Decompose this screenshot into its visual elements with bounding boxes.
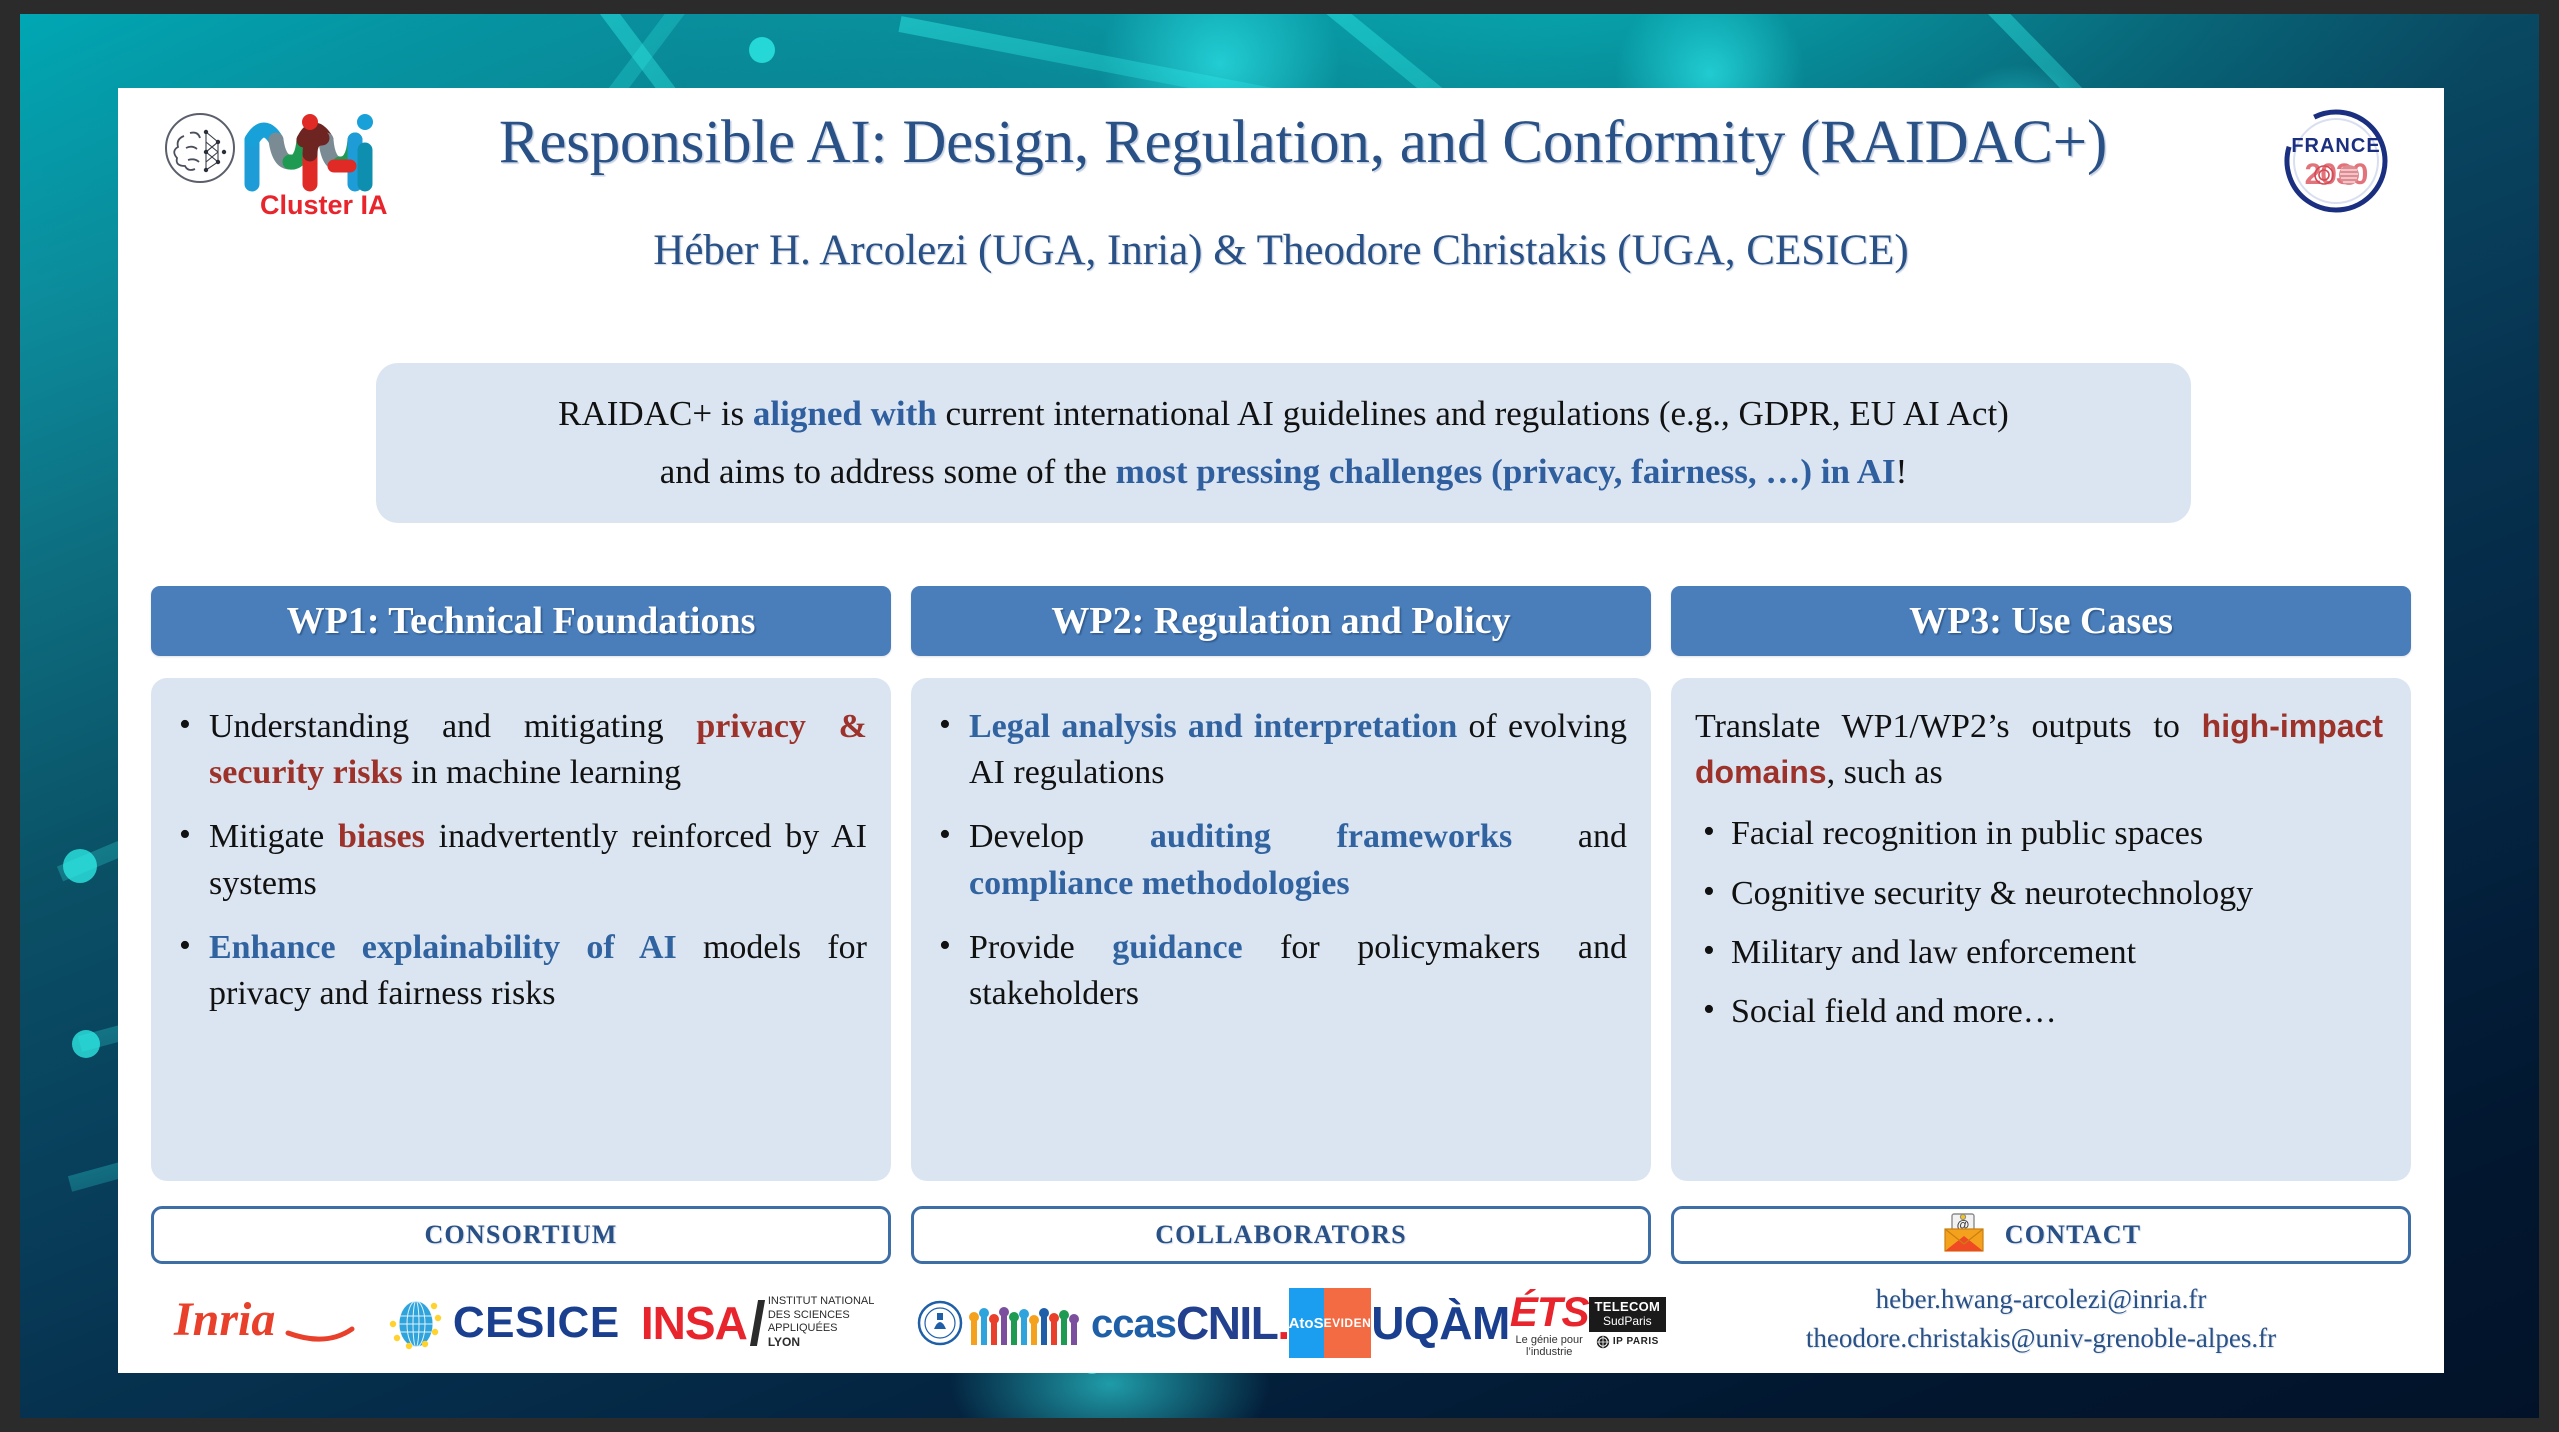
emphasis-blue: Enhance explainability of AI — [209, 929, 677, 966]
ip-paris-globe-icon — [1596, 1335, 1610, 1349]
consortium-pill: CONSORTIUM — [151, 1206, 891, 1264]
footer-row: CONSORTIUM Inria — [151, 1206, 2411, 1366]
insa-sub-l2: DES SCIENCES — [768, 1309, 850, 1321]
insa-wordmark: INSA — [641, 1296, 747, 1350]
list-item: Legal analysis and interpretation of evo… — [929, 704, 1627, 796]
miai-cluster-ia-logo: Cluster IA — [160, 100, 395, 220]
wp2-bullet-list: Legal analysis and interpretation of evo… — [929, 704, 1627, 1017]
ip-paris-text: IP PARIS — [1613, 1336, 1659, 1347]
wp3-body: Translate WP1/WP2’s outputs to high-impa… — [1671, 678, 2411, 1181]
list-item: Social field and more… — [1689, 990, 2387, 1034]
cesice-wordmark: CESICE — [453, 1298, 620, 1348]
wp1-body: Understanding and mitigating privacy & s… — [151, 678, 891, 1181]
ets-logo: ÉTS Le génie pour l’industrie — [1510, 1288, 1589, 1358]
text-run: Mitigate — [209, 818, 338, 855]
consortium-logo-strip: Inria — [151, 1282, 891, 1364]
text-run: ! — [1896, 452, 1908, 491]
text-run: and — [1512, 818, 1627, 855]
slide-background: Cluster IA Responsible AI: Design, Regul… — [20, 14, 2539, 1418]
list-item: Provide guidance for policymakers and st… — [929, 925, 1627, 1017]
text-run: Translate WP1/WP2’s outputs to — [1695, 708, 2202, 745]
atos-eviden-logo: AtoS EVIDEN — [1289, 1288, 1372, 1358]
contact-email-1[interactable]: heber.hwang-arcolezi@inria.fr — [1671, 1280, 2411, 1319]
telecom-line-1: TELECOM — [1595, 1299, 1661, 1314]
emphasis-blue: guidance — [1112, 929, 1242, 966]
work-package-wp2: WP2: Regulation and Policy Legal analysi… — [911, 586, 1651, 1181]
svg-text:Cluster IA: Cluster IA — [260, 190, 388, 220]
wp3-bullet-list: Facial recognition in public spacesCogni… — [1689, 812, 2387, 1034]
svg-text:Inria: Inria — [173, 1293, 275, 1346]
text-run: current international AI guidelines and … — [937, 394, 2009, 433]
consortium-label: CONSORTIUM — [424, 1220, 617, 1250]
cnil-logo: CNIL. — [1176, 1296, 1289, 1350]
ccas-ville-de-grenoble-logo: ccas — [917, 1299, 1176, 1347]
emphasis-blue: auditing frameworks — [1150, 818, 1512, 855]
poster-header: Cluster IA Responsible AI: Design, Regul… — [118, 88, 2444, 223]
intro-line-1: RAIDAC+ is aligned with current internat… — [558, 395, 2009, 434]
ets-tagline: Le génie pour l’industrie — [1510, 1334, 1589, 1358]
cnil-wordmark: CNIL — [1176, 1297, 1277, 1349]
insa-divider — [750, 1300, 765, 1346]
contact-section: @ CONTACT heber.hwang-arcolezi@inria.fr … — [1671, 1206, 2411, 1366]
collaborators-logo-strip: ccas CNIL. AtoS EVIDEN UQÀM ÉTS Le génie… — [911, 1282, 1651, 1364]
work-package-wp1: WP1: Technical Foundations Understanding… — [151, 586, 891, 1181]
work-package-wp3: WP3: Use Cases Translate WP1/WP2’s outpu… — [1671, 586, 2411, 1181]
contact-pill: @ CONTACT — [1671, 1206, 2411, 1264]
list-item: Mitigate biases inadvertently reinforced… — [169, 814, 867, 906]
svg-text:FRANCE: FRANCE — [2291, 135, 2380, 157]
list-item: Military and law enforcement — [1689, 931, 2387, 975]
collaborators-section: COLLABORATORS — [911, 1206, 1651, 1366]
collaborators-label: COLLABORATORS — [1155, 1220, 1407, 1250]
author-line: Héber H. Arcolezi (UGA, Inria) & Theodor… — [118, 226, 2444, 275]
wp1-header: WP1: Technical Foundations — [151, 586, 891, 656]
france-2030-logo: FRANCE 2030 — [2266, 102, 2406, 220]
poster-card: Cluster IA Responsible AI: Design, Regul… — [118, 88, 2444, 1373]
contact-email-2[interactable]: theodore.christakis@univ-grenoble-alpes.… — [1671, 1319, 2411, 1358]
ccas-people-icon — [967, 1307, 1087, 1347]
text-run: and aims to address some of the — [660, 452, 1116, 491]
emphasis-blue: aligned with — [753, 394, 937, 433]
text-run: , such as — [1827, 754, 1943, 791]
intro-callout: RAIDAC+ is aligned with current internat… — [376, 363, 2191, 523]
insa-sub-l4: LYON — [768, 1335, 800, 1349]
list-item: Understanding and mitigating privacy & s… — [169, 704, 867, 796]
insa-sub-l3: APPLIQUÉES — [768, 1322, 838, 1334]
list-item: Facial recognition in public spaces — [1689, 812, 2387, 856]
emphasis-blue: compliance methodologies — [969, 865, 1350, 902]
telecom-box: TELECOM SudParis — [1589, 1297, 1667, 1332]
collaborators-pill: COLLABORATORS — [911, 1206, 1651, 1264]
cnil-dot: . — [1277, 1297, 1288, 1349]
insa-lyon-logo: INSA INSTITUT NATIONAL DES SCIENCES APPL… — [641, 1295, 874, 1351]
text-run: Develop — [969, 818, 1150, 855]
telecom-line-2: SudParis — [1603, 1314, 1652, 1328]
list-item: Enhance explainability of AI models for … — [169, 925, 867, 1017]
emphasis-blue: Legal analysis and interpretation — [969, 708, 1457, 745]
ip-paris-label: IP PARIS — [1589, 1335, 1667, 1349]
list-item: Cognitive security & neurotechnology — [1689, 872, 2387, 916]
cesice-logo: CESICE — [389, 1294, 620, 1352]
insa-subtitle: INSTITUT NATIONAL DES SCIENCES APPLIQUÉE… — [768, 1295, 875, 1351]
contact-emails: heber.hwang-arcolezi@inria.fr theodore.c… — [1671, 1280, 2411, 1358]
page-title: Responsible AI: Design, Regulation, and … — [378, 108, 2228, 178]
inria-logo: Inria — [168, 1289, 368, 1358]
insa-sub-l1: INSTITUT NATIONAL — [768, 1295, 875, 1307]
telecom-sudparis-logo: TELECOM SudParis IP PARIS — [1589, 1297, 1667, 1349]
wp2-header: WP2: Regulation and Policy — [911, 586, 1651, 656]
intro-line-2: and aims to address some of the most pre… — [660, 453, 1908, 492]
atos-wordmark: AtoS — [1289, 1288, 1324, 1358]
text-run: Provide — [969, 929, 1112, 966]
email-envelope-icon: @ — [1941, 1212, 1987, 1259]
contact-label: CONTACT — [2005, 1220, 2141, 1250]
wp2-body: Legal analysis and interpretation of evo… — [911, 678, 1651, 1181]
consortium-section: CONSORTIUM Inria — [151, 1206, 891, 1366]
wp3-header: WP3: Use Cases — [1671, 586, 2411, 656]
wp3-lead-text: Translate WP1/WP2’s outputs to high-impa… — [1689, 704, 2387, 796]
text-run: Understanding and mitigating — [209, 708, 696, 745]
emphasis-red: biases — [338, 818, 425, 855]
eviden-wordmark: EVIDEN — [1324, 1288, 1372, 1358]
text-run: RAIDAC+ is — [558, 394, 753, 433]
uqam-logo: UQÀM — [1371, 1296, 1510, 1350]
text-run: in machine learning — [403, 754, 682, 791]
ccas-wordmark: ccas — [1091, 1302, 1176, 1347]
emphasis-blue: most pressing challenges (privacy, fairn… — [1116, 452, 1896, 491]
wp1-bullet-list: Understanding and mitigating privacy & s… — [169, 704, 867, 1017]
ets-wordmark: ÉTS — [1510, 1288, 1589, 1336]
work-packages-row: WP1: Technical Foundations Understanding… — [151, 586, 2411, 1181]
list-item: Develop auditing frameworks and complian… — [929, 814, 1627, 906]
